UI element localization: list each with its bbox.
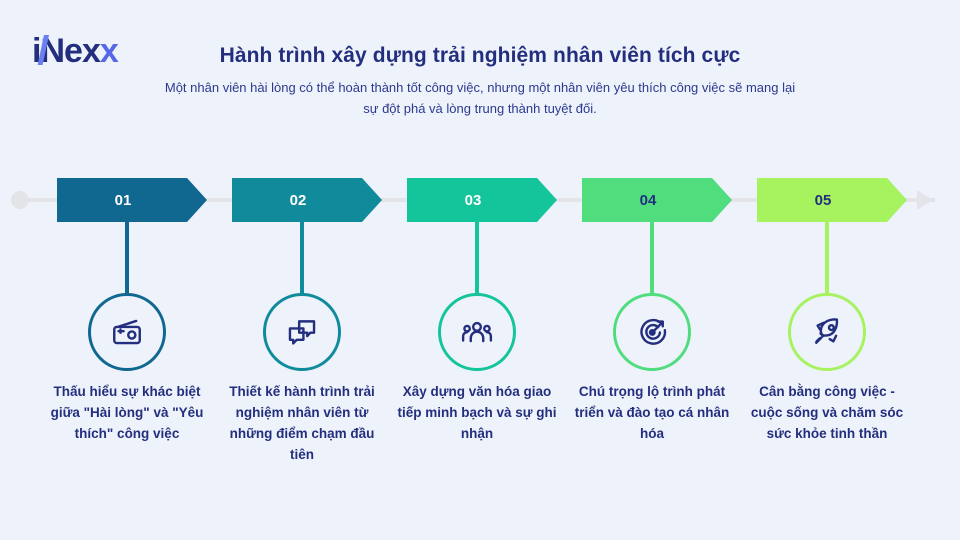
timeline-step-chevron-3[interactable]: 03 (407, 178, 557, 222)
logo-letter-n: N (40, 34, 64, 68)
logo-letter-e: e (64, 32, 82, 70)
icon-circle-5[interactable] (788, 293, 866, 371)
step-caption-2: Thiết kế hành trình trải nghiệm nhân viê… (218, 382, 386, 466)
icon-circle-4[interactable] (613, 293, 691, 371)
page-subtitle: Một nhân viên hài lòng có thể hoàn thành… (150, 78, 810, 120)
brand-logo: iNexx (32, 34, 118, 68)
logo-letter-x2: x (100, 32, 118, 70)
step-number-2: 02 (290, 192, 325, 209)
connector-stem-1 (125, 222, 129, 296)
page-title: Hành trình xây dựng trải nghiệm nhân viê… (150, 44, 810, 68)
logo-letter-x1: x (82, 32, 100, 70)
target-arrow-icon (635, 315, 669, 349)
step-number-1: 01 (115, 192, 150, 209)
connector-stem-2 (300, 222, 304, 296)
step-number-5: 05 (815, 192, 850, 209)
step-caption-3: Xây dựng văn hóa giao tiếp minh bạch và … (393, 382, 561, 445)
timeline-step-chevron-5[interactable]: 05 (757, 178, 907, 222)
rocket-icon (810, 315, 844, 349)
step-caption-5: Cân bằng công việc - cuộc sống và chăm s… (743, 382, 911, 445)
timeline-step-chevron-1[interactable]: 01 (57, 178, 207, 222)
connector-stem-4 (650, 222, 654, 296)
timeline-band: 01 02 03 04 05 (0, 178, 960, 222)
step-number-3: 03 (465, 192, 500, 209)
timeline-step-chevron-4[interactable]: 04 (582, 178, 732, 222)
connector-stem-3 (475, 222, 479, 296)
radio-icon (110, 315, 144, 349)
timeline-step-chevron-2[interactable]: 02 (232, 178, 382, 222)
step-caption-4: Chú trọng lộ trình phát triển và đào tạo… (568, 382, 736, 445)
icon-circle-2[interactable] (263, 293, 341, 371)
header-block: Hành trình xây dựng trải nghiệm nhân viê… (150, 44, 810, 120)
icon-circle-1[interactable] (88, 293, 166, 371)
timeline-start-dot-icon (11, 191, 29, 209)
people-group-icon (460, 315, 494, 349)
connector-stem-5 (825, 222, 829, 296)
step-number-4: 04 (640, 192, 675, 209)
timeline-end-arrow-icon (917, 190, 933, 210)
icon-circle-3[interactable] (438, 293, 516, 371)
step-caption-1: Thấu hiểu sự khác biệt giữa "Hài lòng" v… (43, 382, 211, 445)
chat-bubbles-icon (285, 315, 319, 349)
